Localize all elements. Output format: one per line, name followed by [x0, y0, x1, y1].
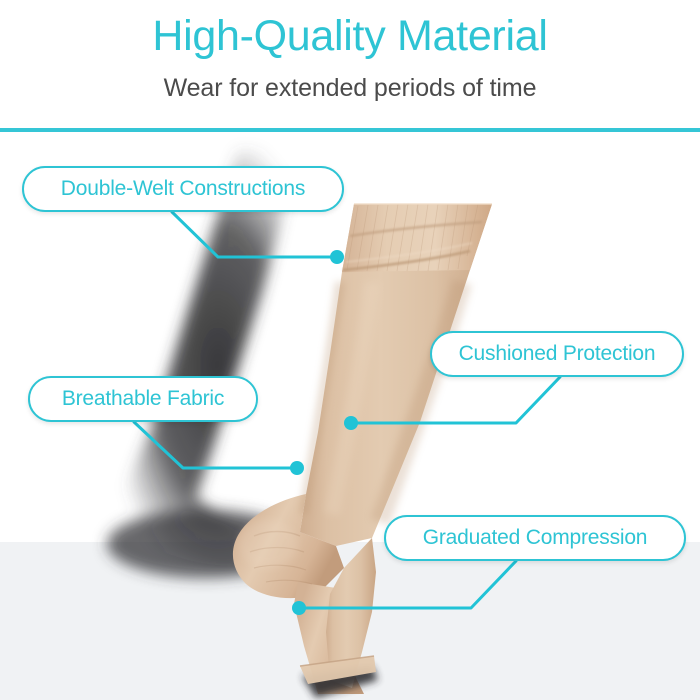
header: High-Quality Material Wear for extended … — [0, 0, 700, 132]
callout-graduated-compression[interactable]: Graduated Compression — [384, 515, 686, 561]
page-subtitle: Wear for extended periods of time — [0, 74, 700, 103]
callout-label: Breathable Fabric — [62, 387, 224, 411]
anchor-dot-graduated-compression — [292, 601, 306, 615]
callout-breathable-fabric[interactable]: Breathable Fabric — [28, 376, 258, 422]
callout-label: Graduated Compression — [423, 526, 648, 550]
stocking-body — [233, 204, 492, 698]
page-title: High-Quality Material — [0, 12, 700, 61]
callout-double-welt-constructions[interactable]: Double-Welt Constructions — [22, 166, 344, 212]
callout-label: Cushioned Protection — [459, 342, 656, 366]
anchor-dot-cushioned-protection — [344, 416, 358, 430]
anchor-dot-breathable-fabric — [290, 461, 304, 475]
callout-cushioned-protection[interactable]: Cushioned Protection — [430, 331, 684, 377]
infographic-page: High-Quality Material Wear for extended … — [0, 0, 700, 700]
anchor-dot-double-welt-constructions — [330, 250, 344, 264]
callout-label: Double-Welt Constructions — [61, 177, 305, 201]
product-stage: Double-Welt Constructions Breathable Fab… — [0, 132, 700, 700]
